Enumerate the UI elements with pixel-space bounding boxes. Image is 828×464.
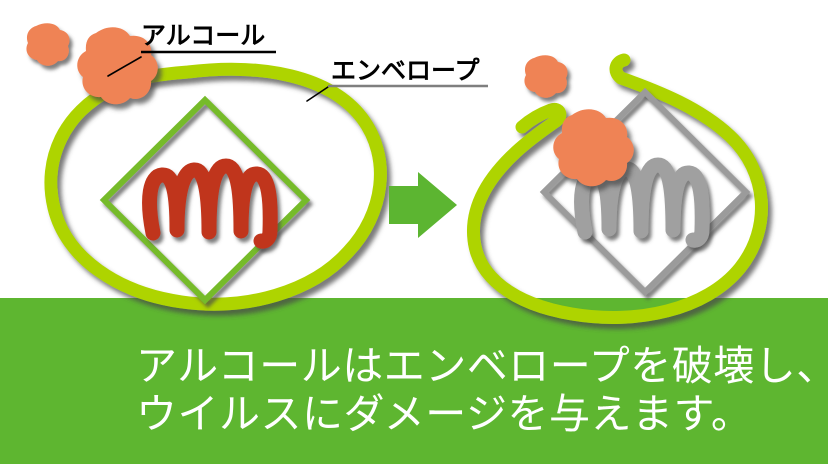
caption-layer: アルコールはエンベロープを破壊し、 ウイルスにダメージを与えます。 <box>0 0 828 464</box>
caption-line-1: アルコールはエンベロープを破壊し、 <box>136 342 828 390</box>
infographic-canvas: アルコール エンベロープ アルコールはエンベロープを破壊し、 ウイルスにダメージ… <box>0 0 828 464</box>
caption-line-2: ウイルスにダメージを与えます。 <box>136 390 752 438</box>
